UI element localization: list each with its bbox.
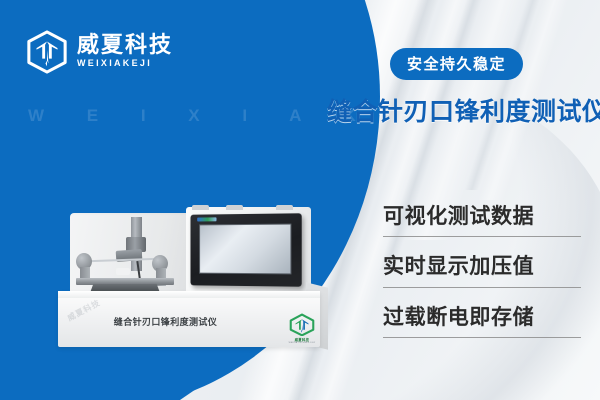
feature-divider [383, 287, 581, 288]
fixture-beam [84, 258, 162, 263]
list-item: 可视化测试数据 [383, 202, 581, 252]
product-logo-en: WEIXIA TECHNOLOGY [289, 342, 316, 344]
hero-badge: 安全持久稳定 [390, 48, 523, 80]
feature-label: 实时显示加压值 [383, 252, 581, 282]
product-photo: 威夏科技 缝合针刃口锋利度测试仪 威夏科技 WEIXIA TECHNOLOGY [58, 205, 348, 365]
weixia-shield-icon [26, 30, 68, 74]
feature-list: 可视化测试数据 实时显示加压值 过载断电即存储 [383, 202, 581, 353]
brand-name-en: WEIXIAKEJI [77, 57, 173, 71]
brand-logo-text: 威夏科技 WEIXIAKEJI [77, 33, 173, 71]
brand-name-cn: 威夏科技 [77, 33, 173, 56]
weixia-green-logo-icon: 威夏科技 WEIXIA TECHNOLOGY [286, 312, 318, 344]
product-label: 缝合针刃口锋利度测试仪 [58, 315, 273, 328]
list-item: 实时显示加压值 [383, 252, 581, 302]
brand-logo[interactable]: 威夏科技 WEIXIAKEJI [26, 30, 173, 74]
test-fixture-assembly [74, 217, 192, 297]
touchscreen-hmi-icon [191, 213, 302, 286]
feature-divider [383, 337, 581, 338]
machine-tab [276, 205, 293, 210]
feature-label: 过载断电即存储 [383, 303, 581, 333]
feature-label: 可视化测试数据 [383, 202, 581, 232]
product-banner: W E I X I A K E 威夏科技 WEIXIAKEJI 安全持久稳定 缝… [0, 0, 600, 400]
feature-divider [383, 236, 581, 237]
page-title: 缝合针刃口锋利度测试仪 [327, 92, 600, 128]
machine-tab [226, 205, 243, 210]
machine-tab [192, 205, 209, 210]
screen-led-strip [197, 217, 216, 221]
screen-display [199, 224, 291, 275]
fixture-sample [116, 268, 130, 275]
list-item: 过载断电即存储 [383, 303, 581, 353]
